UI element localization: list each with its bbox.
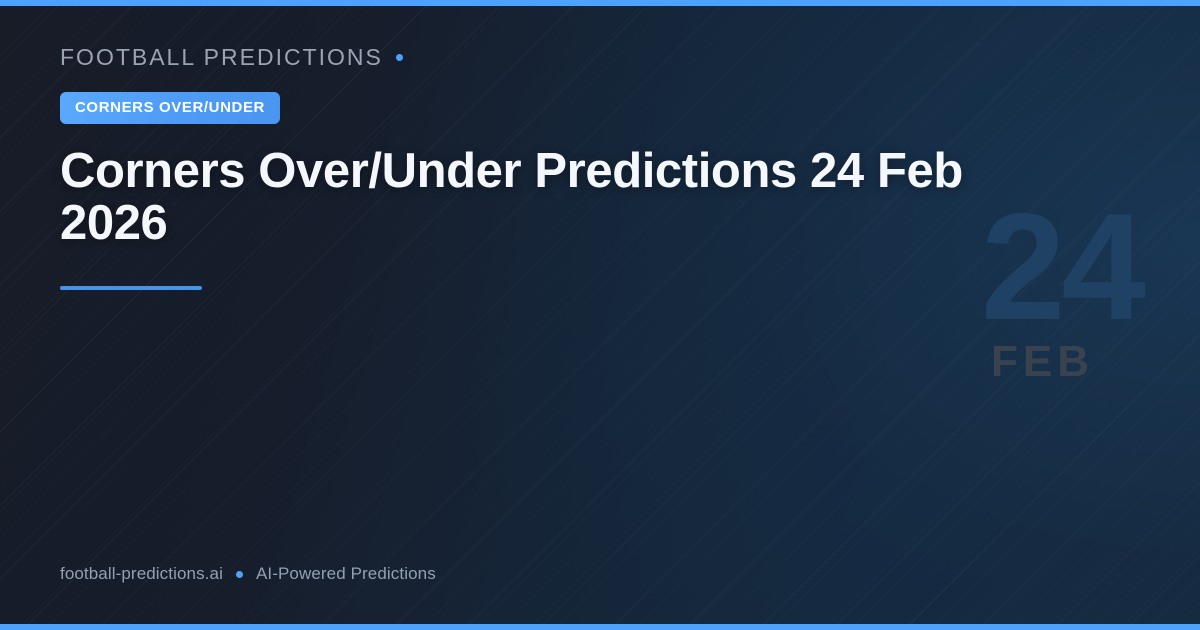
footer-tagline: AI-Powered Predictions	[256, 564, 436, 584]
card-content: FOOTBALL PREDICTIONS CORNERS OVER/UNDER …	[60, 40, 1020, 290]
blue-dot-icon	[396, 54, 403, 61]
brand-eyebrow-label: FOOTBALL PREDICTIONS	[60, 44, 383, 71]
blue-dot-icon	[236, 571, 243, 578]
footer-site-label: football-predictions.ai	[60, 564, 223, 584]
card-footer: football-predictions.ai AI-Powered Predi…	[60, 564, 436, 584]
top-accent-bar	[0, 0, 1200, 6]
category-badge: CORNERS OVER/UNDER	[60, 92, 280, 124]
watermark-month: FEB	[981, 340, 1094, 384]
bottom-accent-bar	[0, 624, 1200, 630]
accent-underline	[60, 286, 202, 290]
og-social-card: 24 FEB FOOTBALL PREDICTIONS CORNERS OVER…	[0, 0, 1200, 630]
brand-eyebrow: FOOTBALL PREDICTIONS	[60, 40, 1020, 74]
page-title: Corners Over/Under Predictions 24 Feb 20…	[60, 145, 970, 250]
